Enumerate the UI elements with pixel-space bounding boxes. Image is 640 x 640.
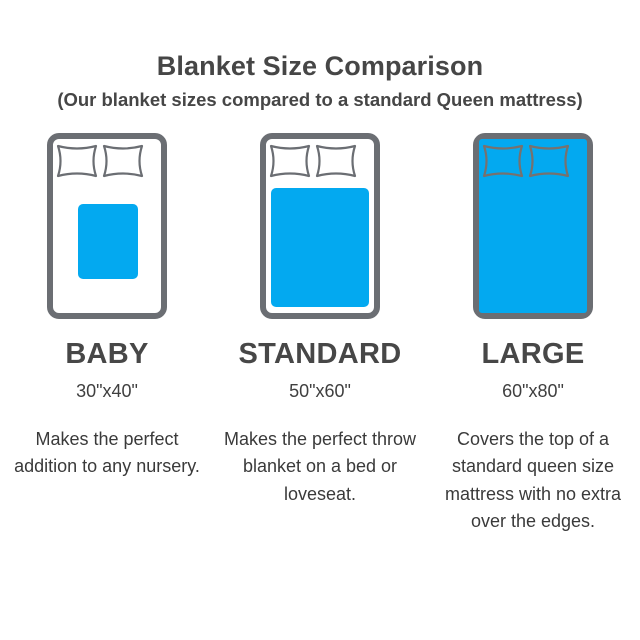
bed-diagram-large xyxy=(473,133,593,319)
size-dimensions-baby: 30"x40" xyxy=(76,382,138,400)
size-description-standard: Makes the perfect throw blanket on a bed… xyxy=(222,426,418,508)
pillow-left-icon xyxy=(271,146,309,176)
size-name-baby: BABY xyxy=(65,340,148,369)
pillow-right-icon xyxy=(104,146,142,176)
blanket-area-baby xyxy=(78,204,138,279)
size-dimensions-standard: 50"x60" xyxy=(289,382,351,400)
size-description-large: Covers the top of a standard queen size … xyxy=(435,426,631,535)
size-description-baby: Makes the perfect addition to any nurser… xyxy=(9,426,205,481)
page-subtitle: (Our blanket sizes compared to a standar… xyxy=(0,89,640,111)
size-column-baby: BABY 30"x40" Makes the perfect addition … xyxy=(1,133,214,481)
pillow-left-icon xyxy=(58,146,96,176)
size-dimensions-large: 60"x80" xyxy=(502,382,564,400)
bed-diagram-standard xyxy=(260,133,380,319)
size-column-large: LARGE 60"x80" Covers the top of a standa… xyxy=(427,133,640,535)
pillow-right-icon xyxy=(317,146,355,176)
bed-diagram-baby xyxy=(47,133,167,319)
blanket-area-standard xyxy=(271,188,369,307)
page-title: Blanket Size Comparison xyxy=(0,52,640,82)
size-column-standard: STANDARD 50"x60" Makes the perfect throw… xyxy=(214,133,427,508)
size-name-large: LARGE xyxy=(482,340,585,369)
size-name-standard: STANDARD xyxy=(239,340,402,369)
page-header: Blanket Size Comparison (Our blanket siz… xyxy=(0,0,640,111)
size-comparison-columns: BABY 30"x40" Makes the perfect addition … xyxy=(0,133,640,535)
